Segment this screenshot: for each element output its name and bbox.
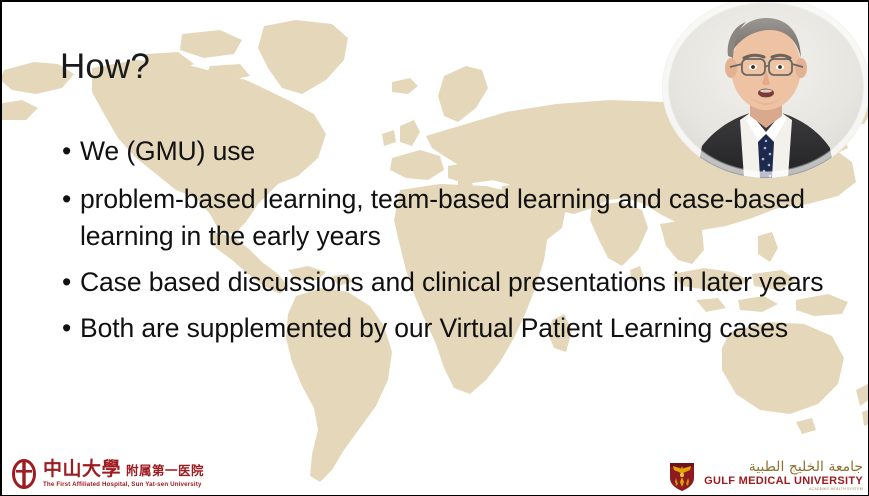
- page-title: How?: [60, 46, 150, 88]
- list-item: • Both are supplemented by our Virtual P…: [60, 310, 860, 347]
- presentation-slide: How? • We (GMU) use • problem-based lear…: [0, 0, 869, 496]
- presenter-video-circle[interactable]: [662, 0, 869, 178]
- hospital-emblem-icon: [11, 459, 37, 489]
- bullet-marker-icon: •: [62, 264, 71, 301]
- list-item-text: Case based discussions and clinical pres…: [80, 267, 823, 297]
- list-item: • problem-based learning, team-based lea…: [60, 181, 869, 255]
- hospital-logo-text: 中山大學 附属第一医院 The First Affiliated Hospita…: [43, 460, 204, 488]
- list-item-text: We (GMU) use: [80, 136, 255, 166]
- hospital-name-chinese-main: 中山大學: [43, 460, 121, 479]
- gulf-medical-university-logo: جامعة الخليج الطبية GULF MEDICAL UNIVERS…: [667, 460, 863, 492]
- list-item: • Case based discussions and clinical pr…: [60, 264, 869, 301]
- list-item-text: problem-based learning, team-based learn…: [80, 184, 805, 251]
- gmu-name-arabic: جامعة الخليج الطبية: [749, 460, 863, 474]
- list-item-text: Both are supplemented by our Virtual Pat…: [80, 313, 788, 343]
- bullet-marker-icon: •: [62, 310, 71, 347]
- hospital-name-english: The First Affiliated Hospital, Sun Yat-s…: [43, 482, 204, 488]
- video-feed[interactable]: [662, 0, 869, 178]
- gmu-name-english: GULF MEDICAL UNIVERSITY: [704, 476, 863, 487]
- hospital-name-chinese: 中山大學 附属第一医院: [43, 460, 204, 479]
- sun-yat-sen-hospital-logo: 中山大學 附属第一医院 The First Affiliated Hospita…: [11, 459, 204, 489]
- gmu-tagline: ACADEMIC HEALTH SYSTEM: [809, 488, 863, 492]
- bullet-marker-icon: •: [62, 133, 71, 170]
- hospital-name-chinese-sub: 附属第一医院: [126, 465, 204, 478]
- gmu-logo-text: جامعة الخليج الطبية GULF MEDICAL UNIVERS…: [704, 460, 863, 492]
- gmu-shield-icon: [667, 460, 697, 492]
- bullet-marker-icon: •: [62, 181, 71, 218]
